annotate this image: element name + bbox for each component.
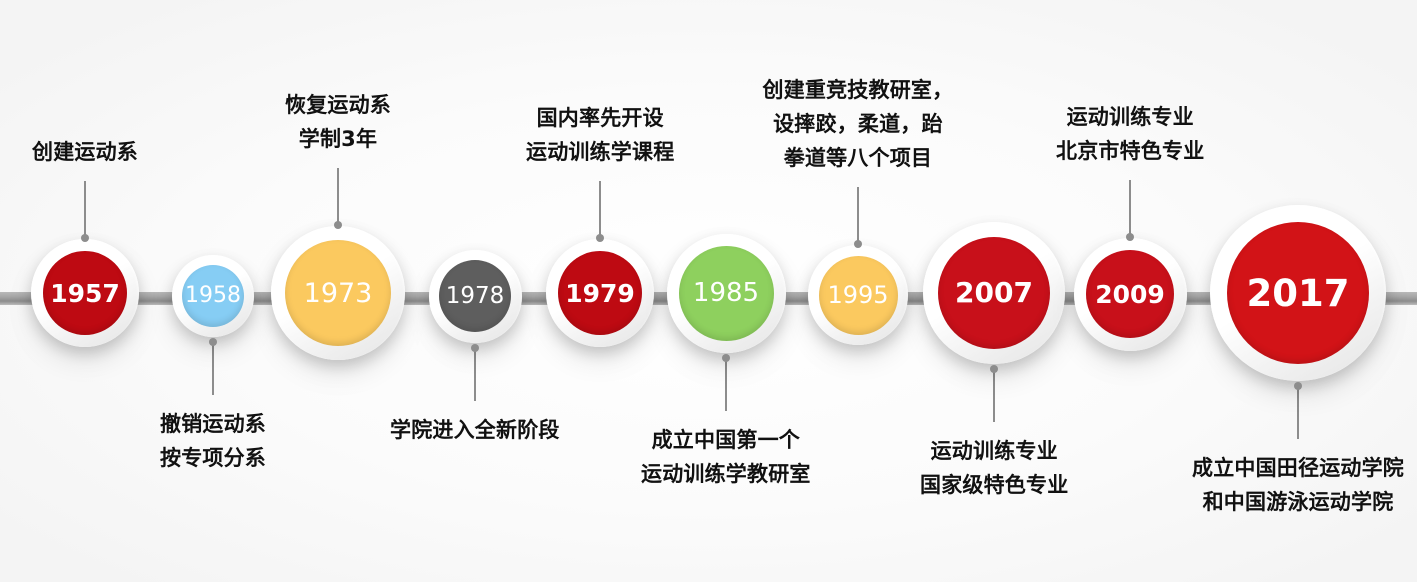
caption-line: 北京市特色专业 [1056,134,1204,168]
timeline-node-1995[interactable]: 1995 [808,245,908,345]
timeline-node-2007[interactable]: 2007 [923,222,1065,364]
caption-line: 撤销运动系 [160,407,266,441]
year-label-2009: 2009 [1086,250,1174,338]
caption-1978: 学院进入全新阶段 [390,413,560,447]
caption-line: 学制3年 [285,122,391,156]
timeline-node-1985[interactable]: 1985 [667,234,786,353]
year-label-2007: 2007 [938,237,1050,349]
timeline-node-1973[interactable]: 1973 [271,226,405,360]
caption-1957: 创建运动系 [32,135,138,169]
caption-line: 学院进入全新阶段 [390,413,560,447]
year-label-1978: 1978 [439,260,511,332]
connector-stem-1973 [337,168,339,224]
connector-stem-1979 [599,181,601,237]
timeline-node-1958[interactable]: 1958 [172,255,254,337]
connector-stem-1995 [857,187,859,243]
caption-line: 设摔跤，柔道，跆 [763,107,954,141]
connector-dot-1979 [596,234,604,242]
connector-dot-1973 [334,221,342,229]
connector-dot-1958 [209,338,217,346]
caption-1979: 国内率先开设运动训练学课程 [526,101,674,169]
caption-line: 国家级特色专业 [920,468,1068,502]
caption-1985: 成立中国第一个运动训练学教研室 [641,423,811,491]
year-label-1957: 1957 [43,251,127,335]
caption-2009: 运动训练专业北京市特色专业 [1056,100,1204,168]
caption-1973: 恢复运动系学制3年 [285,88,391,156]
caption-2007: 运动训练专业国家级特色专业 [920,434,1068,502]
caption-line: 拳道等八个项目 [763,141,954,175]
year-label-2017: 2017 [1227,222,1369,364]
connector-stem-1957 [84,181,86,237]
timeline-node-1978[interactable]: 1978 [429,250,522,343]
connector-dot-2017 [1294,382,1302,390]
caption-line: 恢复运动系 [285,88,391,122]
connector-dot-2007 [990,365,998,373]
year-label-1985: 1985 [679,246,774,341]
timeline-infographic: 1957创建运动系1958撤销运动系按专项分系1973恢复运动系学制3年1978… [0,0,1417,582]
year-label-1973: 1973 [285,240,391,346]
caption-line: 运动训练专业 [920,434,1068,468]
timeline-node-2009[interactable]: 2009 [1074,238,1187,351]
connector-dot-1978 [471,344,479,352]
year-label-1958: 1958 [182,265,244,327]
caption-line: 和中国游泳运动学院 [1192,485,1404,519]
timeline-node-2017[interactable]: 2017 [1210,205,1386,381]
caption-line: 创建运动系 [32,135,138,169]
caption-line: 运动训练学课程 [526,135,674,169]
caption-line: 按专项分系 [160,441,266,475]
connector-dot-1985 [722,354,730,362]
connector-stem-2007 [993,368,995,422]
caption-line: 国内率先开设 [526,101,674,135]
caption-line: 成立中国第一个 [641,423,811,457]
connector-stem-1985 [725,357,727,411]
caption-1958: 撤销运动系按专项分系 [160,407,266,475]
connector-dot-2009 [1126,233,1134,241]
caption-line: 成立中国田径运动学院 [1192,451,1404,485]
caption-2017: 成立中国田径运动学院和中国游泳运动学院 [1192,451,1404,519]
timeline-node-1957[interactable]: 1957 [31,239,139,347]
caption-line: 运动训练专业 [1056,100,1204,134]
connector-stem-2017 [1297,385,1299,439]
caption-1995: 创建重竞技教研室，设摔跤，柔道，跆拳道等八个项目 [763,73,954,175]
connector-dot-1995 [854,240,862,248]
connector-stem-1978 [474,347,476,401]
year-label-1995: 1995 [819,256,898,335]
connector-stem-2009 [1129,180,1131,236]
year-label-1979: 1979 [558,251,642,335]
connector-stem-1958 [212,341,214,395]
timeline-node-1979[interactable]: 1979 [546,239,654,347]
caption-line: 运动训练学教研室 [641,457,811,491]
connector-dot-1957 [81,234,89,242]
caption-line: 创建重竞技教研室， [763,73,954,107]
